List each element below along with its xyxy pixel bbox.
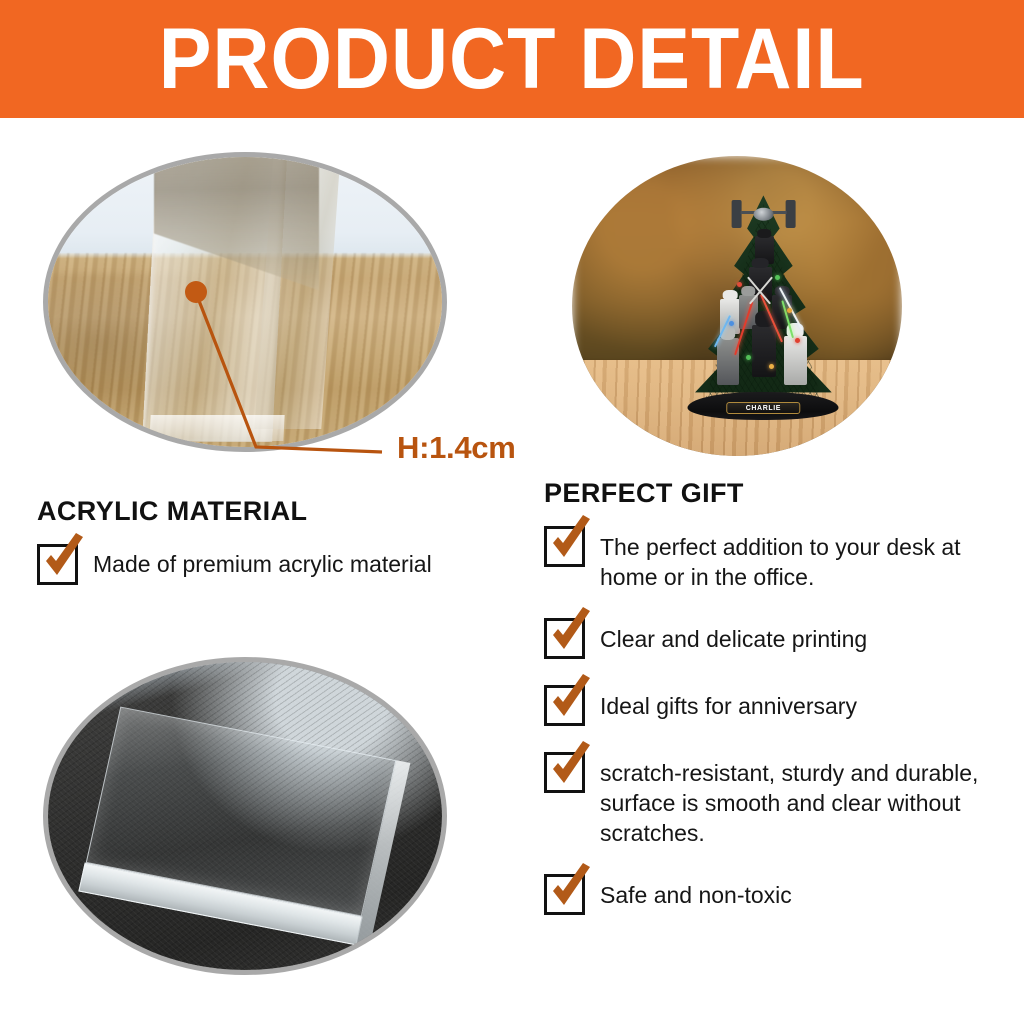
feature-text: Clear and delicate printing bbox=[600, 616, 867, 654]
acrylic-edge-photo bbox=[43, 152, 447, 452]
feature-item: Ideal gifts for anniversary bbox=[544, 683, 1004, 726]
tree-light-amber-1 bbox=[787, 308, 792, 313]
header-banner: PRODUCT DETAIL bbox=[0, 0, 1024, 118]
product-detail-page: PRODUCT DETAIL bbox=[0, 0, 1024, 1024]
figure-trooper-right bbox=[784, 336, 807, 386]
feature-text: Ideal gifts for anniversary bbox=[600, 683, 857, 721]
checkbox-checked-icon[interactable] bbox=[37, 544, 78, 585]
tree-light-amber-2 bbox=[769, 364, 774, 369]
section-title-perfect-gift: PERFECT GIFT bbox=[544, 478, 1004, 508]
feature-item: Made of premium acrylic material bbox=[37, 542, 537, 585]
page-title: PRODUCT DETAIL bbox=[159, 16, 865, 102]
nameplate: CHARLIE bbox=[726, 402, 800, 414]
section-title-acrylic-material: ACRYLIC MATERIAL bbox=[37, 496, 537, 526]
callout-dot-icon bbox=[185, 281, 207, 303]
tree-light-blue-1 bbox=[729, 321, 734, 326]
figure-vader-center bbox=[752, 325, 777, 377]
feature-text: Safe and non-toxic bbox=[600, 872, 792, 910]
checkbox-checked-icon[interactable] bbox=[544, 874, 585, 915]
tree-light-red-1 bbox=[737, 282, 742, 287]
feature-text: scratch-resistant, sturdy and durable, s… bbox=[600, 750, 1004, 848]
feature-item: The perfect addition to your desk at hom… bbox=[544, 524, 1004, 592]
christmas-tree-photo: CHARLIE bbox=[572, 156, 902, 456]
section-acrylic-material: ACRYLIC MATERIAL Made of premium acrylic… bbox=[37, 496, 537, 611]
feature-item: Clear and delicate printing bbox=[544, 616, 1004, 659]
checkbox-checked-icon[interactable] bbox=[544, 618, 585, 659]
tree-display-base: CHARLIE bbox=[688, 392, 839, 420]
callout-label: H:1.4cm bbox=[397, 432, 516, 463]
nameplate-text: CHARLIE bbox=[746, 405, 781, 412]
feature-text: The perfect addition to your desk at hom… bbox=[600, 524, 1004, 592]
christmas-tree: CHARLIE bbox=[691, 204, 836, 420]
figure-lower-left bbox=[717, 338, 739, 386]
checkbox-checked-icon[interactable] bbox=[544, 685, 585, 726]
tie-fighter-topper-icon bbox=[730, 200, 797, 228]
acrylic-block-photo bbox=[43, 657, 447, 975]
feature-item: Safe and non-toxic bbox=[544, 872, 1004, 915]
acrylic-block-base bbox=[150, 415, 285, 441]
feature-text: Made of premium acrylic material bbox=[93, 542, 432, 579]
checkbox-checked-icon[interactable] bbox=[544, 526, 585, 567]
section-perfect-gift: PERFECT GIFT The perfect addition to you… bbox=[544, 478, 1004, 939]
checkbox-checked-icon[interactable] bbox=[544, 752, 585, 793]
feature-item: scratch-resistant, sturdy and durable, s… bbox=[544, 750, 1004, 848]
